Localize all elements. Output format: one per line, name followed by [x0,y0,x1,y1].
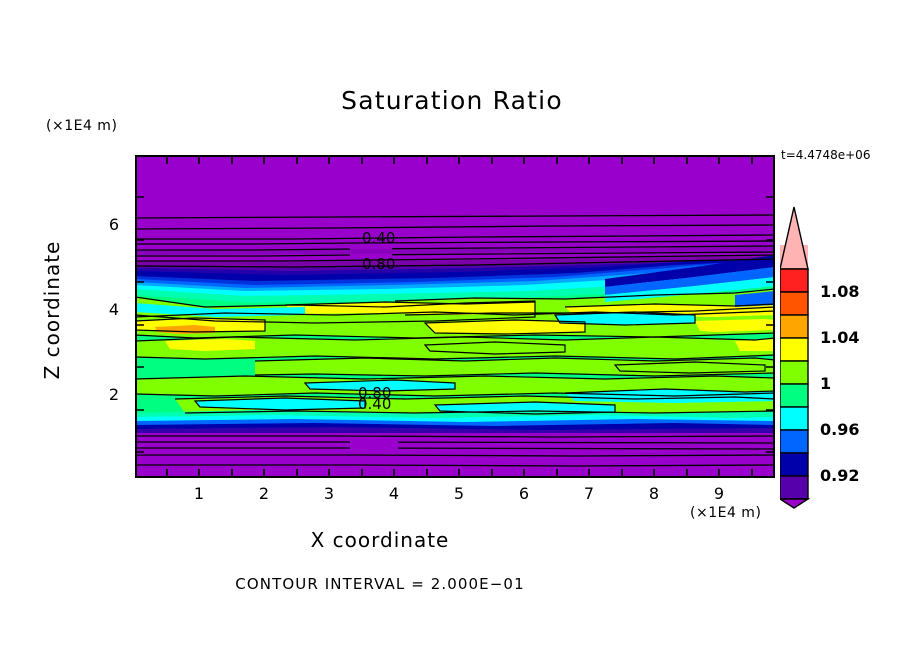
cb-band-10 [780,476,808,499]
yellow-lens-6 [165,339,255,351]
yellow-lens-7 [735,339,775,351]
colorbar-label-1: 1 [820,374,831,393]
field-layers [135,155,775,478]
cb-band-7 [780,407,808,430]
contour-canvas: 0.40 0.80 0.80 0.40 [135,155,775,478]
cb-band-3 [780,315,808,338]
x-tick-4: 4 [382,484,406,503]
x-tick-1: 1 [187,484,211,503]
time-annotation: t=4.4748e+06 [781,148,870,162]
colorbar-label-1-08: 1.08 [820,282,859,301]
yellow-lens-5 [695,319,775,332]
cb-band-5 [780,361,808,384]
x-tick-7: 7 [577,484,601,503]
y-axis-title: Z coordinate [40,220,64,400]
cb-cap-top [780,207,808,269]
colorbar-label-0-96: 0.96 [820,420,859,439]
chart-title: Saturation Ratio [0,86,904,115]
contour-interval-note: CONTOUR INTERVAL = 2.000E−01 [0,575,760,593]
colorbar [780,205,820,510]
x-axis-title: X coordinate [0,528,760,552]
x-tick-6: 6 [512,484,536,503]
colorbar-bands [780,207,808,508]
y-tick-2: 2 [95,385,119,404]
x-tick-9: 9 [707,484,731,503]
y-axis-unit-label: (×1E4 m) [46,118,117,134]
contour-plot: 0.40 0.80 0.80 0.40 [135,155,775,478]
y-tick-6: 6 [95,215,119,234]
cb-band-1 [780,269,808,292]
cb-cap-bottom [780,499,808,508]
colorbar-label-1-04: 1.04 [820,328,859,347]
contour-label-0-40-upper: 0.40 [362,229,395,247]
cb-band-6 [780,384,808,407]
colorbar-canvas [780,205,820,510]
x-tick-5: 5 [447,484,471,503]
x-axis-unit-label: (×1E4 m) [690,505,761,521]
cb-band-4 [780,338,808,361]
cb-band-2 [780,292,808,315]
x-tick-2: 2 [252,484,276,503]
x-tick-3: 3 [317,484,341,503]
contour-label-0-80-upper: 0.80 [362,255,395,273]
y-tick-4: 4 [95,300,119,319]
colorbar-label-0-92: 0.92 [820,466,859,485]
cb-band-9 [780,453,808,476]
cb-band-8 [780,430,808,453]
x-tick-8: 8 [642,484,666,503]
contour-label-0-40-lower: 0.40 [358,395,391,413]
